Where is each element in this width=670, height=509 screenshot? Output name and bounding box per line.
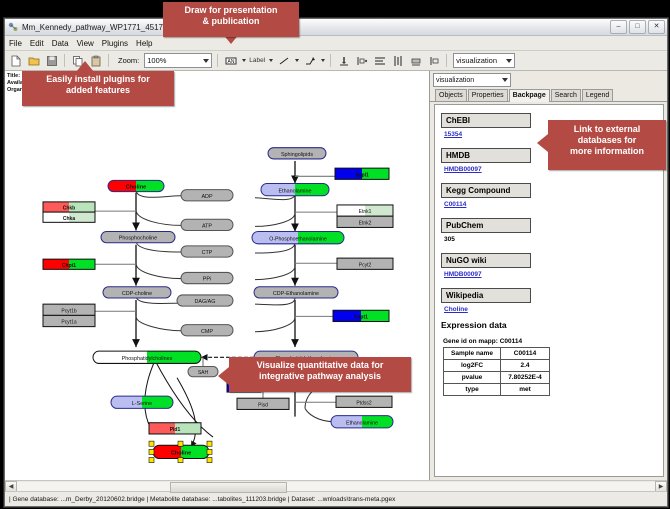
visualization-select-value: visualization: [436, 77, 474, 84]
chevron-down-icon[interactable]: [321, 59, 325, 62]
visualize-callout-line2: integrative pathway analysis: [229, 371, 411, 382]
svg-text:Sgpl1: Sgpl1: [355, 172, 369, 178]
datanode-icon[interactable]: AN: [223, 53, 238, 68]
plugins-callout: Easily install plugins for added feature…: [22, 71, 174, 106]
backpage-value-pubchem: 305: [444, 236, 663, 243]
group-icon[interactable]: [426, 53, 441, 68]
gene-sgpl1: Sgpl1: [335, 168, 389, 179]
svg-text:SAH: SAH: [198, 370, 209, 376]
toolbar-separator: [446, 54, 447, 67]
draw-callout-line2: & publication: [163, 16, 299, 27]
chevron-down-icon[interactable]: [242, 59, 246, 62]
gene-chka: Chka: [43, 212, 95, 222]
backpage-heading-hmdb: HMDB: [441, 148, 531, 163]
open-folder-icon[interactable]: [26, 53, 41, 68]
plugins-callout-line1: Easily install plugins for: [22, 74, 174, 85]
node-choline-selected: Choline: [149, 441, 212, 462]
maximize-button[interactable]: □: [629, 20, 646, 34]
links-callout-line2: databases for: [548, 135, 666, 146]
cell-key: type: [444, 384, 501, 396]
cell-value: 2.4: [501, 360, 550, 372]
backpage-heading-kegg: Kegg Compound: [441, 183, 531, 198]
svg-text:Etnk2: Etnk2: [359, 220, 372, 226]
gene-pisd: Pisd: [237, 398, 289, 409]
chevron-down-icon: [506, 59, 512, 63]
line-icon[interactable]: [276, 53, 291, 68]
svg-text:Chka: Chka: [63, 216, 75, 222]
chevron-down-icon[interactable]: [269, 59, 273, 62]
svg-text:Cept1: Cept1: [354, 314, 368, 320]
backpage-link-kegg[interactable]: C00114: [444, 201, 663, 208]
svg-text:Chkb: Chkb: [63, 206, 75, 212]
links-callout-line1: Link to external: [548, 124, 666, 135]
node-atp: ATP: [181, 219, 233, 230]
new-file-icon[interactable]: [8, 53, 23, 68]
arrow-shape-icon[interactable]: [302, 53, 317, 68]
node-phosphocholine: Phosphocholine: [101, 232, 175, 243]
distribute-horizontal-icon[interactable]: [390, 53, 405, 68]
gene-chkb: Chkb: [43, 202, 95, 212]
node-sphingolipids: Sphingolipids: [268, 148, 326, 159]
table-row: log2FC 2.4: [444, 360, 550, 372]
save-icon[interactable]: [44, 53, 59, 68]
stack-center-icon[interactable]: [408, 53, 423, 68]
toolbar: Zoom: 100% AN Label: [5, 51, 667, 71]
backpage-heading-pubchem: PubChem: [441, 218, 531, 233]
menu-item-help[interactable]: Help: [136, 39, 152, 48]
svg-text:CDP-choline: CDP-choline: [122, 291, 152, 297]
backpage-link-nugo[interactable]: HMDB00097: [444, 271, 663, 278]
expression-data-table: Sample name C00114 log2FC 2.4 pvalue 7.8…: [443, 347, 550, 396]
menu-bar: File Edit Data View Plugins Help: [5, 36, 667, 51]
pathway-canvas-pane[interactable]: Title: Availab Organi: [5, 71, 430, 480]
menu-item-edit[interactable]: Edit: [30, 39, 44, 48]
cell-key: log2FC: [444, 360, 501, 372]
gene-etnk1: Etnk1: [337, 205, 393, 216]
backpage-heading-chebi: ChEBI: [441, 113, 531, 128]
links-callout-arrow: [537, 134, 548, 152]
backpage-heading-nugo: NuGO wiki: [441, 253, 531, 268]
svg-text:CDP-Ethanolamine: CDP-Ethanolamine: [273, 291, 319, 297]
node-adp: ADP: [181, 190, 233, 201]
toolbar-separator: [330, 54, 331, 67]
zoom-value: 100%: [147, 56, 166, 65]
menu-item-file[interactable]: File: [9, 39, 22, 48]
svg-text:CTP: CTP: [202, 250, 213, 256]
cell-value: 7.80252E-4: [501, 372, 550, 384]
visualization-select[interactable]: visualization: [433, 73, 511, 87]
minimize-button[interactable]: –: [610, 20, 627, 34]
node-dag-ag: DAG/AG: [177, 295, 233, 306]
svg-text:PPi: PPi: [203, 277, 211, 283]
svg-text:Sphingolipids: Sphingolipids: [281, 152, 313, 158]
tab-backpage[interactable]: Backpage: [509, 89, 550, 102]
visualize-callout: Visualize quantitative data for integrat…: [229, 357, 411, 392]
tab-objects[interactable]: Objects: [435, 89, 467, 101]
menu-item-data[interactable]: Data: [52, 39, 69, 48]
draw-callout-line1: Draw for presentation: [163, 5, 299, 16]
menu-item-plugins[interactable]: Plugins: [102, 39, 128, 48]
svg-text:CMP: CMP: [201, 329, 213, 335]
svg-text:Pcyt1b: Pcyt1b: [61, 308, 76, 314]
align-bottom-icon[interactable]: [336, 53, 351, 68]
svg-text:Choline: Choline: [126, 185, 147, 191]
links-callout-line3: more information: [548, 146, 666, 157]
svg-text:Ethanolamine: Ethanolamine: [279, 188, 312, 194]
table-row: pvalue 7.80252E-4: [444, 372, 550, 384]
svg-text:Etnk1: Etnk1: [359, 209, 372, 215]
label-tool-label[interactable]: Label: [249, 57, 265, 64]
zoom-combo[interactable]: 100%: [144, 53, 212, 68]
horizontal-scrollbar[interactable]: ◀ ▶: [5, 480, 667, 491]
plugins-callout-line2: added features: [22, 85, 174, 96]
gene-cept1: Cept1: [333, 310, 389, 321]
svg-text:DAG/AG: DAG/AG: [195, 299, 216, 305]
toolbar-separator: [64, 54, 65, 67]
visualize-callout-line1: Visualize quantitative data for: [229, 360, 411, 371]
distribute-vertical-icon[interactable]: [372, 53, 387, 68]
tab-legend[interactable]: Legend: [582, 89, 613, 101]
svg-text:Pcyt2: Pcyt2: [359, 262, 372, 268]
node-ethanolamine-bottom: Ethanolamine: [331, 416, 393, 428]
tab-search[interactable]: Search: [551, 89, 581, 101]
gene-etnk2: Etnk2: [337, 216, 393, 227]
tab-properties[interactable]: Properties: [468, 89, 508, 101]
svg-text:Ethanolamine: Ethanolamine: [346, 420, 378, 426]
svg-text:AN: AN: [227, 59, 234, 65]
table-row: Sample name C00114: [444, 348, 550, 360]
close-button[interactable]: ✕: [648, 20, 665, 34]
pathway-diagram[interactable]: Choline Sphingolipids ADP ATP Ethanolami…: [5, 71, 429, 480]
draw-callout: Draw for presentation & publication: [163, 2, 299, 37]
chevron-down-icon: [502, 78, 508, 82]
node-ppi: PPi: [181, 272, 233, 283]
svg-text:L-Serine: L-Serine: [132, 401, 152, 407]
node-ethanolamine: Ethanolamine: [261, 183, 329, 195]
node-phosphatidylcholines: Phosphatidylcholines: [93, 351, 201, 363]
status-bar: | Gene database: ...m_Derby_20120602.bri…: [5, 491, 667, 506]
scroll-right-arrow[interactable]: ▶: [655, 481, 667, 492]
pathvisio-icon: [8, 22, 18, 32]
svg-text:Pisd: Pisd: [258, 402, 268, 408]
node-cmp: CMP: [181, 325, 233, 336]
svg-text:ADP: ADP: [201, 194, 212, 200]
visualization-combo-top-value: visualization: [456, 56, 497, 65]
svg-text:Pcyt1a: Pcyt1a: [61, 320, 76, 326]
chevron-down-icon[interactable]: [295, 59, 299, 62]
svg-text:Ptdss2: Ptdss2: [356, 400, 371, 406]
cell-key: Sample name: [444, 348, 501, 360]
cell-value: met: [501, 384, 550, 396]
gene-pcyt1a: Pcyt1a: [43, 315, 95, 326]
toolbar-separator: [108, 54, 109, 67]
gene-pcyt2: Pcyt2: [337, 258, 393, 269]
svg-text:Chpt1: Chpt1: [62, 263, 76, 269]
svg-text:Choline: Choline: [171, 450, 192, 456]
cell-value: C00114: [501, 348, 550, 360]
visualization-combo-top[interactable]: visualization: [453, 53, 515, 68]
align-left-icon[interactable]: [354, 53, 369, 68]
side-panel-tabs: Objects Properties Backpage Search Legen…: [430, 88, 667, 102]
window-controls: – □ ✕: [610, 20, 665, 34]
backpage-heading-wikipedia: Wikipedia: [441, 288, 531, 303]
node-o-phosphoethanolamine: O-Phosphoethanolamine: [252, 232, 344, 244]
gene-ptdss2: Ptdss2: [336, 396, 392, 407]
toolbar-separator: [217, 54, 218, 67]
node-choline-top: Choline: [108, 180, 164, 191]
svg-text:Phosphatidylcholines: Phosphatidylcholines: [122, 356, 173, 362]
scroll-thumb[interactable]: [170, 482, 287, 493]
node-l-serine-left: L-Serine: [111, 396, 173, 408]
node-cdp-ethanolamine: CDP-Ethanolamine: [254, 287, 338, 298]
chevron-down-icon: [203, 59, 209, 63]
gene-chpt1: Chpt1: [43, 259, 95, 269]
svg-text:Phosphocholine: Phosphocholine: [119, 236, 157, 242]
scroll-track[interactable]: [17, 482, 655, 491]
node-cdp-choline: CDP-choline: [103, 287, 171, 298]
gene-pld1: Pld1: [149, 423, 201, 434]
menu-item-view[interactable]: View: [77, 39, 94, 48]
scroll-left-arrow[interactable]: ◀: [5, 481, 17, 492]
cell-key: pvalue: [444, 372, 501, 384]
expression-data-heading: Expression data: [441, 320, 663, 330]
visualize-callout-arrow: [218, 367, 229, 385]
node-ctp: CTP: [181, 246, 233, 257]
backpage-link-wikipedia[interactable]: Choline: [444, 306, 663, 313]
pathway-node-group: Choline Sphingolipids ADP ATP Ethanolami…: [93, 148, 393, 463]
svg-text:O-Phosphoethanolamine: O-Phosphoethanolamine: [269, 236, 327, 242]
title-bar: Mm_Kennedy_pathway_WP1771_45176.gpml – □…: [5, 19, 667, 36]
gene-pcyt1b: Pcyt1b: [43, 304, 95, 315]
status-bar-text: | Gene database: ...m_Derby_20120602.bri…: [9, 496, 395, 503]
svg-text:ATP: ATP: [202, 223, 212, 229]
node-sah: SAH: [188, 367, 218, 377]
svg-text:Pld1: Pld1: [170, 427, 181, 433]
zoom-label: Zoom:: [118, 56, 139, 65]
links-callout: Link to external databases for more info…: [548, 120, 666, 170]
table-row: type met: [444, 384, 550, 396]
gene-id-line: Gene id on mapp: C00114: [443, 338, 663, 345]
